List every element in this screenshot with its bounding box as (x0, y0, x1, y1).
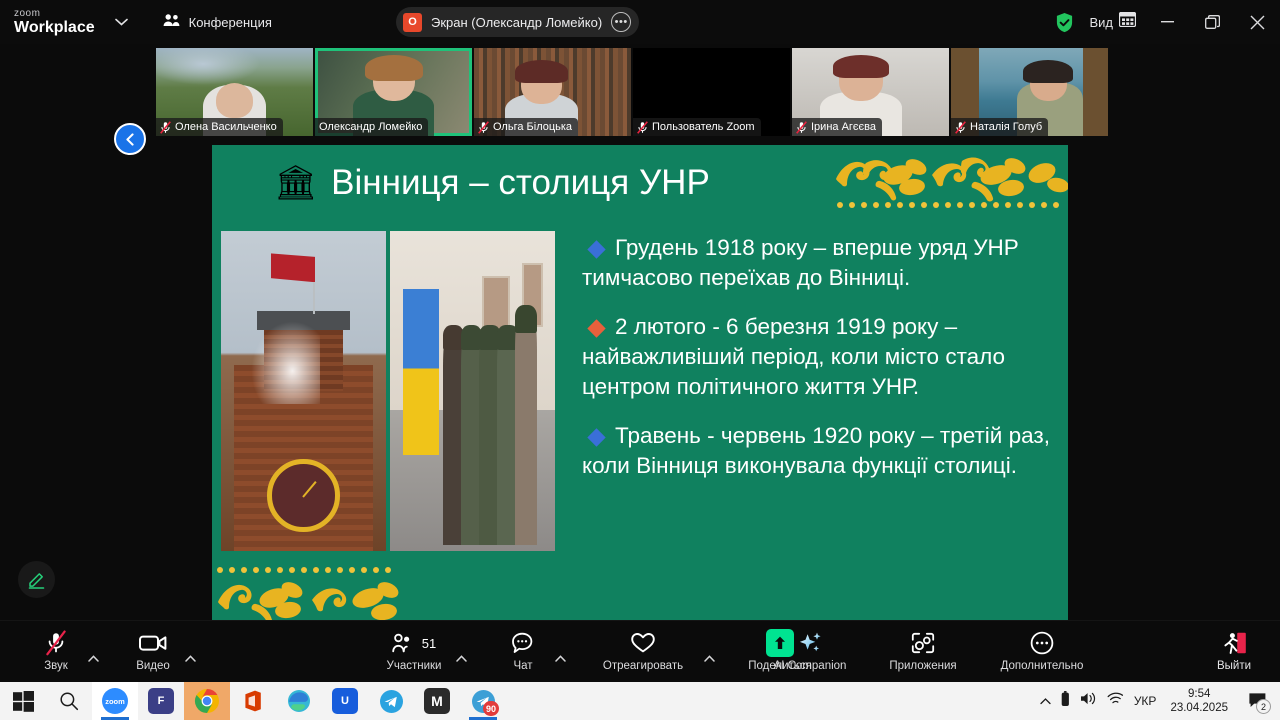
ai-companion-button[interactable]: AI Companion (762, 621, 858, 672)
avatar-hair (515, 60, 568, 83)
video-button[interactable]: Видео (127, 621, 179, 672)
mic-muted-icon (637, 121, 648, 134)
slide-bullet-text: Грудень 1918 року – вперше уряд УНР тимч… (582, 235, 1019, 290)
video-button-label: Видео (136, 660, 170, 672)
leave-meeting-button[interactable]: Выйти (1206, 621, 1262, 683)
slide-bullet-text: Травень - червень 1920 року – третій раз… (582, 423, 1050, 478)
avatar-hair (365, 55, 423, 81)
chat-options-chevron-up-icon[interactable] (549, 645, 572, 671)
participant-thumbnail[interactable]: Ірина Агєєва (792, 48, 949, 136)
title-bar-right: Вид (1055, 0, 1280, 44)
thumbnail-name-bar: Олександр Ломейко (315, 118, 428, 136)
avatar-hair (1023, 60, 1073, 83)
view-button[interactable]: Вид (1080, 7, 1145, 37)
participant-thumbnail-active[interactable]: Олександр Ломейко (315, 48, 472, 136)
slide-title-text: Вінниця – столиця УНР (331, 163, 710, 203)
leave-door-icon (1221, 630, 1248, 656)
zoom-logo-bottom: Workplace (14, 20, 95, 36)
thumbnail-name-bar: Олена Васильченко (156, 118, 283, 136)
audio-button-label: Звук (44, 660, 68, 672)
participants-group-icon (163, 13, 181, 32)
taskbar-app-chrome[interactable] (184, 682, 230, 720)
share-indicator-label: Экран (Олександр Ломейко) (431, 15, 602, 30)
more-dots-icon (1030, 630, 1054, 656)
toolbar-center-group: 51 Участники Чат (378, 621, 823, 683)
slide-images (221, 231, 555, 551)
chrome-icon (194, 688, 220, 714)
participants-count: 51 (422, 636, 436, 651)
flip-icon: F (148, 688, 174, 714)
view-button-label: Вид (1089, 15, 1113, 30)
slide-bullet-item: Травень - червень 1920 року – третій раз… (582, 421, 1058, 480)
share-more-icon[interactable]: ••• (611, 12, 631, 32)
zoom-logo: zoom Workplace (14, 9, 95, 36)
thumbnail-name: Олександр Ломейко (319, 121, 422, 133)
clock-time: 9:54 (1188, 687, 1210, 701)
participant-thumbnail[interactable]: Олена Васильченко (156, 48, 313, 136)
participants-button-label: Участники (387, 660, 442, 672)
audio-options-chevron-up-icon[interactable] (82, 645, 105, 671)
thumbnail-name: Ірина Агєєва (811, 121, 876, 133)
taskbar-app-m[interactable]: M (414, 682, 460, 720)
leave-meeting-label: Выйти (1217, 660, 1251, 672)
reactions-button-label: Отреагировать (603, 660, 683, 672)
mic-muted-icon (955, 121, 966, 134)
more-button[interactable]: Дополнительно (988, 621, 1096, 672)
participant-thumbnail[interactable]: Наталія Голуб (951, 48, 1108, 136)
telegram-icon (379, 689, 404, 714)
meeting-toolbar: Звук Видео (0, 620, 1280, 682)
taskbar-app-office[interactable] (230, 682, 276, 720)
diamond-bullet-icon (587, 240, 605, 258)
wifi-icon[interactable] (1107, 692, 1124, 711)
photo-soldiers-parade (390, 231, 555, 551)
battery-icon[interactable] (1061, 691, 1070, 712)
share-badge-icon: O (403, 13, 422, 32)
mic-muted-icon (478, 121, 489, 134)
encryption-shield-icon[interactable] (1055, 12, 1074, 33)
close-button[interactable] (1235, 0, 1280, 44)
diamond-bullet-icon (587, 429, 605, 447)
filmstrip-previous-button[interactable] (114, 123, 146, 155)
reactions-options-chevron-up-icon[interactable] (698, 645, 721, 671)
slide-bullet-text: 2 лютого - 6 березня 1919 року – найважл… (582, 314, 1005, 398)
chat-button-label: Чат (513, 660, 532, 672)
slide-bullet-item: 2 лютого - 6 березня 1919 року – найважл… (582, 312, 1058, 401)
thumbnail-list: Олена Васильченко Олександр Ломейко (156, 48, 1108, 136)
participant-thumbnail[interactable]: Ольга Білоцька (474, 48, 631, 136)
taskbar-app-telegram[interactable] (368, 682, 414, 720)
reactions-button[interactable]: Отреагировать (588, 621, 698, 672)
edge-icon (287, 689, 311, 713)
chat-bubble-icon (511, 630, 535, 656)
participants-button[interactable]: 51 Участники (378, 621, 450, 672)
thumbnail-name-bar: Наталія Голуб (951, 118, 1048, 136)
petrykivka-ornament-bottom-icon (212, 564, 402, 620)
notifications-button[interactable]: 2 (1242, 682, 1272, 720)
windows-logo-icon (13, 691, 34, 712)
taskbar-app-bitwarden[interactable]: U (322, 682, 368, 720)
workspace-chevron-down-icon[interactable] (109, 9, 135, 35)
participants-icon: 51 (392, 630, 436, 656)
petrykivka-ornament-top-icon (828, 145, 1068, 217)
camera-icon (139, 630, 167, 656)
apps-button[interactable]: Приложения (876, 621, 970, 672)
avatar-face (216, 83, 254, 118)
pencil-icon (27, 570, 46, 589)
thumbnail-name-bar: Пользователь Zoom (633, 118, 761, 136)
mic-muted-icon (160, 121, 171, 134)
toolbar-left-group: Звук Видео (30, 621, 202, 683)
thumbnail-name: Пользователь Zoom (652, 121, 755, 133)
photo-clock-tower (221, 231, 386, 551)
office-icon (241, 689, 265, 713)
apps-icon (911, 630, 935, 656)
video-options-chevron-up-icon[interactable] (179, 645, 202, 671)
tray-chevron-up-icon[interactable] (1040, 692, 1051, 710)
ai-companion-button-label: AI Companion (774, 660, 847, 672)
slide-bullet-item: Грудень 1918 року – вперше уряд УНР тимч… (582, 233, 1058, 292)
minimize-button[interactable] (1145, 0, 1190, 44)
annotate-button[interactable] (18, 561, 55, 598)
avatar-hair (833, 55, 890, 78)
search-button[interactable] (46, 682, 92, 720)
m-icon: M (424, 688, 450, 714)
telegram-unread-badge: 90 (483, 701, 499, 716)
shared-screen-slide: 🏛 Вінниця – столиця УНР (212, 145, 1068, 620)
shield-icon: U (332, 688, 358, 714)
volume-icon[interactable] (1080, 691, 1097, 711)
participant-filmstrip: Олена Васильченко Олександр Ломейко (0, 44, 1280, 140)
maximize-button[interactable] (1190, 0, 1235, 44)
windows-taskbar: zoom F U (0, 682, 1280, 720)
grid-view-icon (1119, 12, 1136, 32)
taskbar-app-telegram-2[interactable]: 90 (460, 682, 506, 720)
thumbnail-name: Наталія Голуб (970, 121, 1042, 133)
diamond-bullet-icon (587, 320, 605, 338)
system-tray: УКР 9:54 23.04.2025 2 (1040, 682, 1280, 720)
apps-button-label: Приложения (889, 660, 956, 672)
notification-count: 2 (1256, 699, 1271, 714)
start-button[interactable] (0, 682, 46, 720)
title-bar: zoom Workplace Конференция O Экран (Олек… (0, 0, 1280, 44)
participants-options-chevron-up-icon[interactable] (450, 645, 473, 671)
classical-building-icon: 🏛 (274, 166, 317, 200)
participant-thumbnail[interactable]: Пользователь Zoom (633, 48, 790, 136)
slide-title: 🏛 Вінниця – столиця УНР (274, 163, 710, 203)
taskbar-app-flip[interactable]: F (138, 682, 184, 720)
mic-muted-icon (45, 630, 67, 656)
thumbnail-name: Олена Васильченко (175, 121, 277, 133)
slide-bullet-list: Грудень 1918 року – вперше уряд УНР тимч… (582, 233, 1058, 501)
taskbar-app-zoom[interactable]: zoom (92, 682, 138, 720)
chat-button[interactable]: Чат (497, 621, 549, 672)
window-frame (1083, 48, 1108, 136)
zoom-logo-top: zoom (14, 9, 95, 19)
taskbar-app-edge[interactable] (276, 682, 322, 720)
heart-icon (630, 630, 656, 656)
clock-date: 23.04.2025 (1170, 701, 1228, 715)
zoom-icon: zoom (102, 688, 128, 714)
search-icon (59, 691, 79, 711)
language-indicator[interactable]: УКР (1134, 694, 1157, 708)
screen-share-indicator[interactable]: O Экран (Олександр Ломейко) ••• (396, 7, 639, 37)
thumbnail-name: Ольга Білоцька (493, 121, 572, 133)
thumbnail-name-bar: Ольга Білоцька (474, 118, 578, 136)
zoom-meeting-window: zoom Workplace Конференция O Экран (Олек… (0, 0, 1280, 720)
tab-meeting-label: Конференция (189, 15, 272, 30)
toolbar-right-group: AI Companion Приложения (762, 621, 1096, 683)
thumbnail-name-bar: Ірина Агєєва (792, 118, 882, 136)
more-button-label: Дополнительно (1001, 660, 1084, 672)
clock[interactable]: 9:54 23.04.2025 (1170, 687, 1228, 716)
sparkle-icon (797, 630, 823, 656)
tab-meeting[interactable]: Конференция (153, 8, 282, 37)
audio-button[interactable]: Звук (30, 621, 82, 672)
mic-muted-icon (796, 121, 807, 134)
